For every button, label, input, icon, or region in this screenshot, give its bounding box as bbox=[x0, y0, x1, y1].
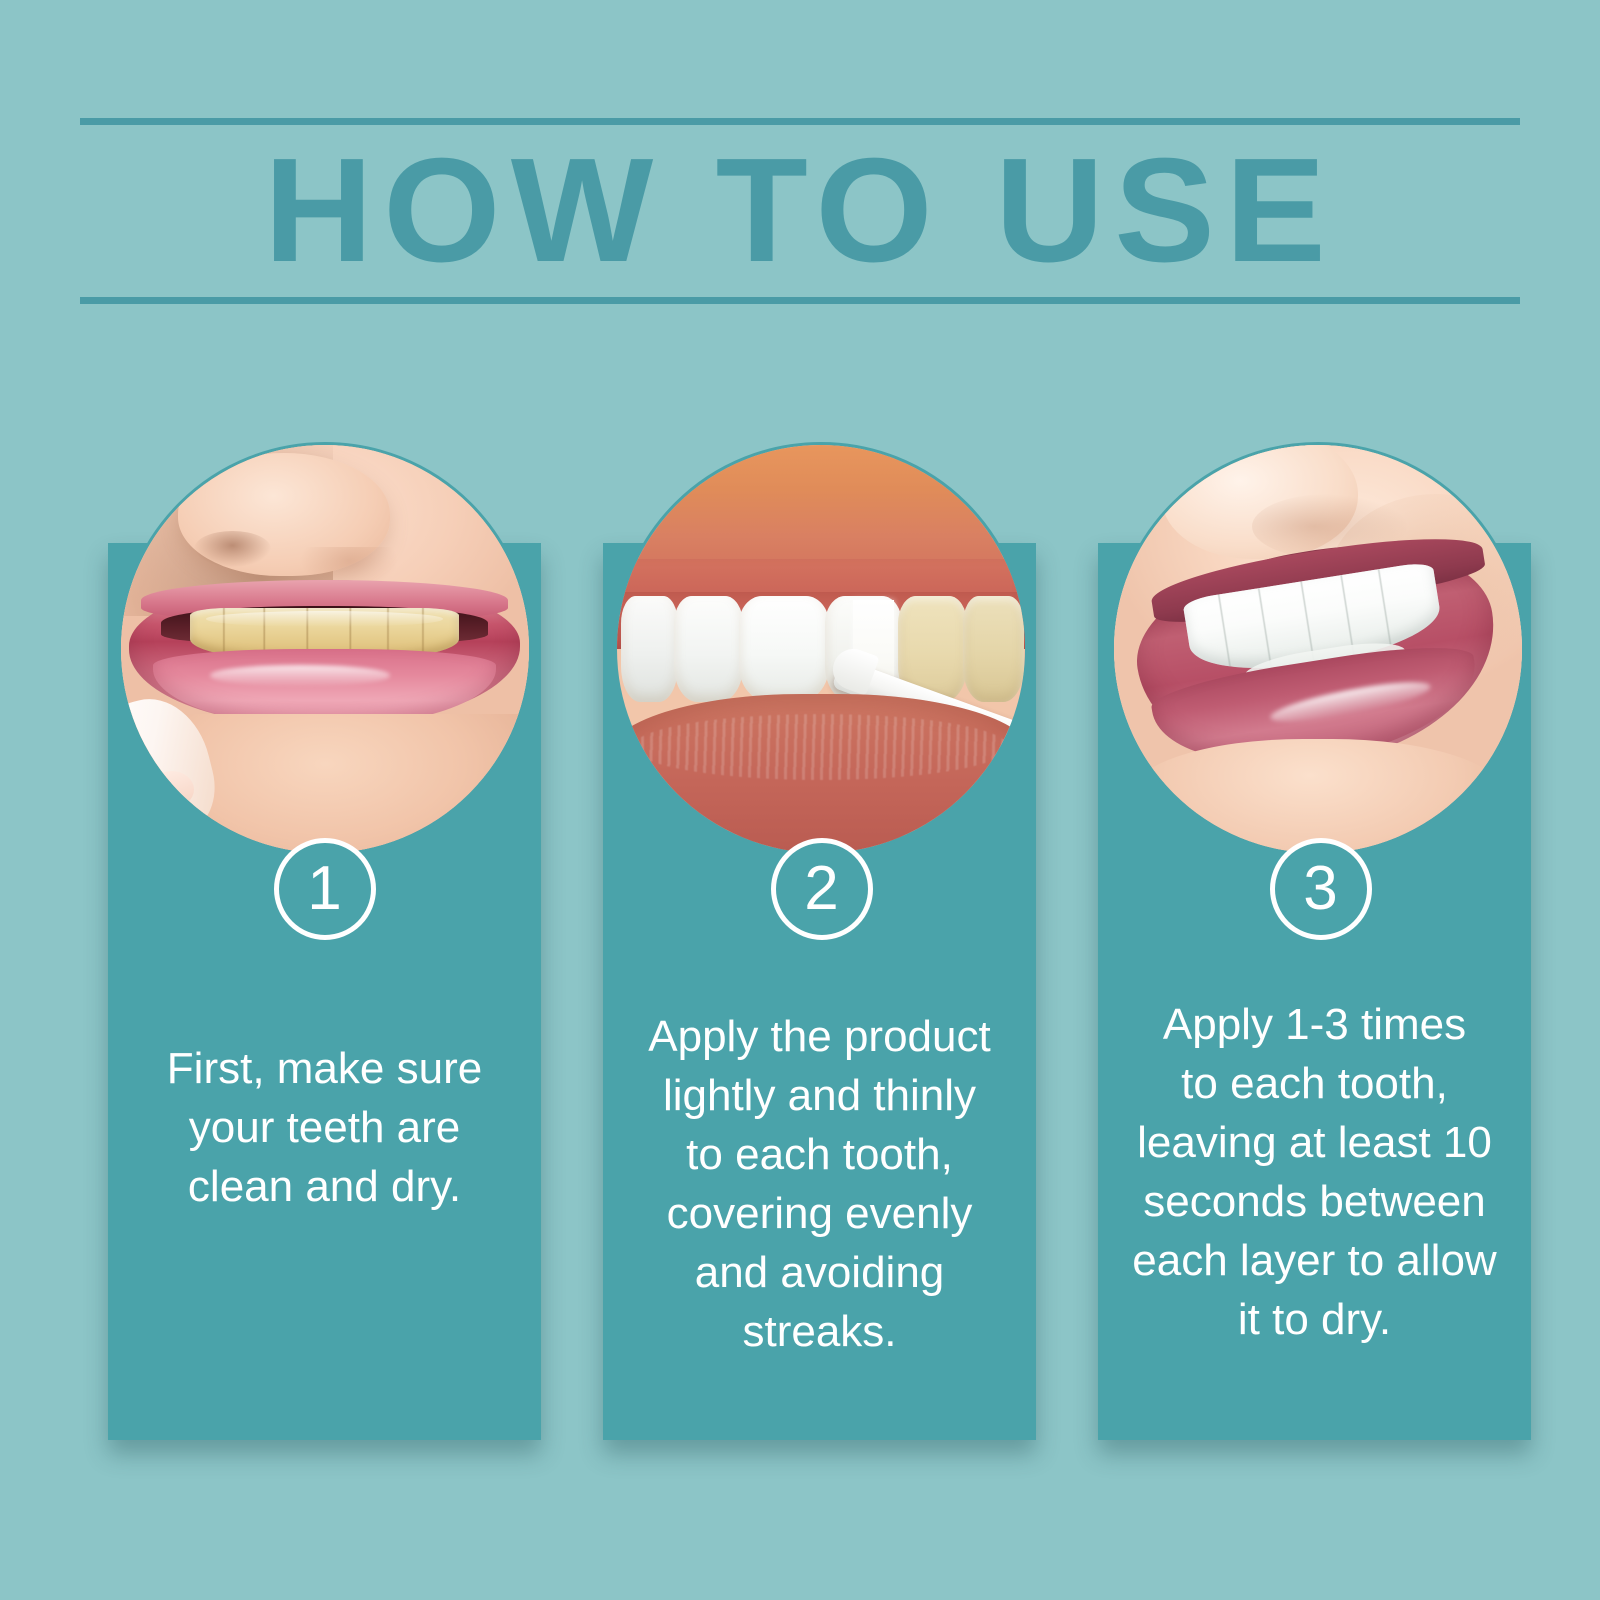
step-number-badge-3: 3 bbox=[1270, 838, 1372, 940]
lip-texture bbox=[633, 714, 1008, 779]
step-number-badge-1: 1 bbox=[274, 838, 376, 940]
title-block: HOW TO USE bbox=[80, 118, 1520, 304]
title-rule-bottom bbox=[80, 297, 1520, 304]
step-number-badge-2: 2 bbox=[771, 838, 873, 940]
tooth-3 bbox=[739, 596, 829, 702]
step-caption-3: Apply 1-3 times to each tooth, leaving a… bbox=[1098, 995, 1531, 1349]
white-teeth-photo bbox=[1111, 442, 1525, 856]
page-title: HOW TO USE bbox=[66, 125, 1535, 297]
lip-highlight bbox=[210, 665, 390, 685]
tooth-6-stained bbox=[963, 596, 1024, 702]
title-rule-top bbox=[80, 118, 1520, 125]
step-caption-1: First, make sure your teeth are clean an… bbox=[108, 1039, 541, 1216]
stained-teeth-photo bbox=[118, 442, 532, 856]
applying-product-photo bbox=[614, 442, 1028, 856]
tooth-2 bbox=[674, 596, 743, 702]
step-caption-2: Apply the product lightly and thinly to … bbox=[603, 1007, 1036, 1361]
fingernail-shape bbox=[149, 771, 194, 808]
tooth-1 bbox=[621, 596, 678, 702]
